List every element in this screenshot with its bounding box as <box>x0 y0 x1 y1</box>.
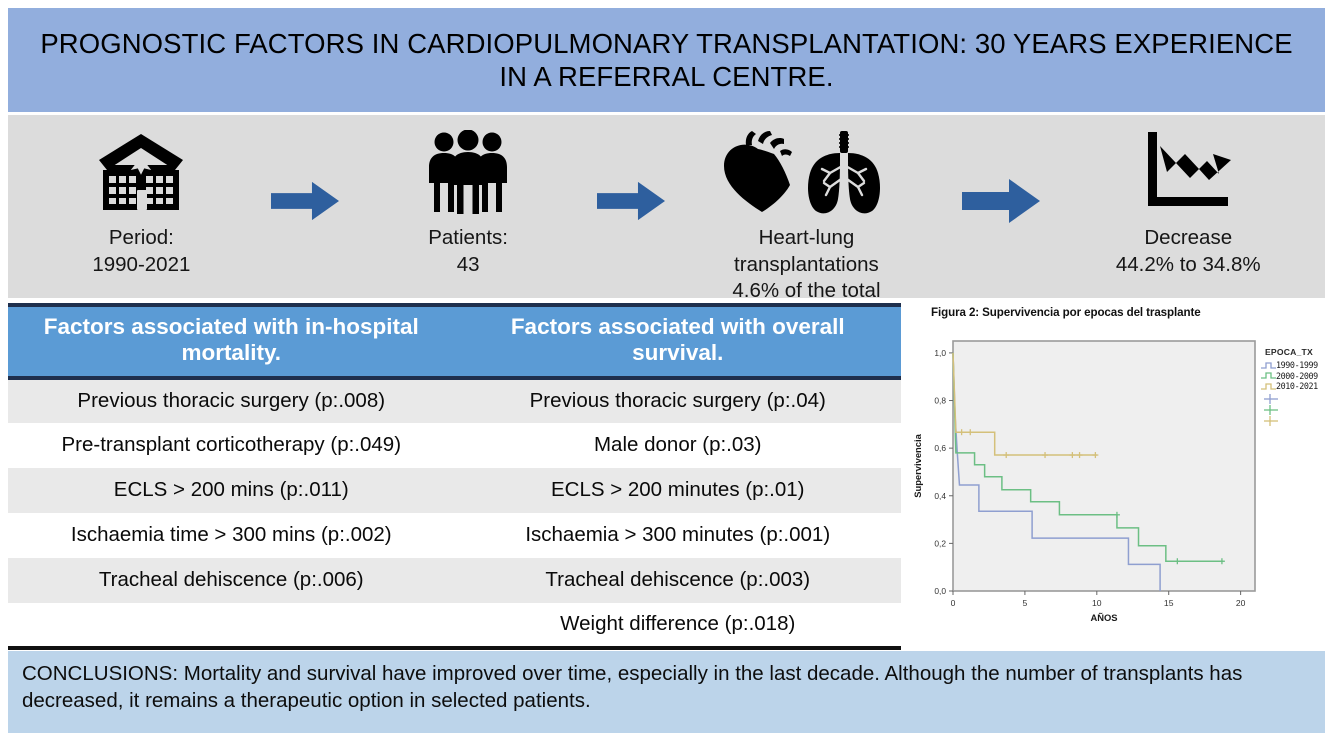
flow-arrow-3-cell <box>947 129 1055 223</box>
cell-mortality-3: ECLS > 200 mins (p:.011) <box>8 468 455 513</box>
legend-step-glyph <box>1261 382 1276 391</box>
flow-step-decrease: Decrease 44.2% to 34.8% <box>1056 129 1322 278</box>
decreasing-chart-icon <box>1142 129 1234 215</box>
svg-text:0,2: 0,2 <box>934 538 946 548</box>
results-area: Factors associated with in-hospital mort… <box>8 300 1325 647</box>
flow-arrow-2-cell <box>597 129 665 223</box>
svg-text:AÑOS: AÑOS <box>1090 612 1117 623</box>
flow-arrow-1-cell <box>271 129 339 223</box>
right-arrow-icon <box>597 179 665 223</box>
cell-survival-6: Weight difference (p:.018) <box>455 603 902 648</box>
table-row: Pre-transplant corticotherapy (p:.049) M… <box>8 423 901 468</box>
table-row: Weight difference (p:.018) <box>8 603 901 648</box>
flow-step-transplantations: Heart-lung transplantations 4.6% of the … <box>665 129 947 305</box>
legend-title: EPOCA_TX <box>1265 347 1327 357</box>
conclusions-text: CONCLUSIONS: Mortality and survival have… <box>22 660 1311 715</box>
table-header-survival: Factors associated with overall survival… <box>455 305 902 378</box>
poster-title: PROGNOSTIC FACTORS IN CARDIOPULMONARY TR… <box>26 27 1307 93</box>
legend-label-0: 1990-1999 <box>1276 360 1318 370</box>
svg-text:10: 10 <box>1092 598 1102 608</box>
right-arrow-icon <box>271 179 339 223</box>
cell-survival-3: ECLS > 200 minutes (p:.01) <box>455 468 902 513</box>
flow-label-transplantations: Heart-lung transplantations 4.6% of the … <box>732 225 880 305</box>
svg-text:0,8: 0,8 <box>934 396 946 406</box>
svg-text:5: 5 <box>1023 598 1028 608</box>
hospital-icon <box>93 129 189 215</box>
legend-item-1: 2000-2009 <box>1261 371 1327 381</box>
flow-step-period: Period: 1990-2021 <box>12 129 271 278</box>
cell-mortality-5: Tracheal dehiscence (p:.006) <box>8 558 455 603</box>
legend-item-0: 1990-1999 <box>1261 360 1327 370</box>
svg-text:0,0: 0,0 <box>934 586 946 596</box>
survival-chart-panel: Figura 2: Supervivencia por epocas del t… <box>901 300 1325 647</box>
svg-text:15: 15 <box>1164 598 1174 608</box>
cell-mortality-4: Ischaemia time > 300 mins (p:.002) <box>8 513 455 558</box>
cell-survival-1: Previous thoracic surgery (p:.04) <box>455 378 902 423</box>
legend-label-1: 2000-2009 <box>1276 371 1318 381</box>
patients-group-icon <box>418 129 518 215</box>
cell-mortality-6 <box>8 603 455 648</box>
cell-survival-5: Tracheal dehiscence (p:.003) <box>455 558 902 603</box>
title-banner: PROGNOSTIC FACTORS IN CARDIOPULMONARY TR… <box>8 8 1325 112</box>
table-row: Tracheal dehiscence (p:.006) Tracheal de… <box>8 558 901 603</box>
table-row: Previous thoracic surgery (p:.008) Previ… <box>8 378 901 423</box>
svg-text:Supervivencia: Supervivencia <box>912 433 923 497</box>
factors-tables: Factors associated with in-hospital mort… <box>8 300 901 647</box>
chart-title: Figura 2: Supervivencia por epocas del t… <box>931 306 1325 319</box>
table-header-row: Factors associated with in-hospital mort… <box>8 305 901 378</box>
cell-mortality-2: Pre-transplant corticotherapy (p:.049) <box>8 423 455 468</box>
factors-table: Factors associated with in-hospital mort… <box>8 303 901 650</box>
right-arrow-icon <box>962 179 1040 223</box>
chart-legend: EPOCA_TX 1990-1999 2000-2009 <box>1261 347 1327 433</box>
cell-survival-4: Ischaemia > 300 minutes (p:.001) <box>455 513 902 558</box>
legend-step-glyph <box>1261 361 1276 370</box>
svg-text:0,6: 0,6 <box>934 443 946 453</box>
svg-text:20: 20 <box>1236 598 1246 608</box>
svg-text:0: 0 <box>951 598 956 608</box>
cell-survival-2: Male donor (p:.03) <box>455 423 902 468</box>
table-header-mortality: Factors associated with in-hospital mort… <box>8 305 455 378</box>
chart-body: 0,00,20,40,60,81,005101520AÑOSSuperviven… <box>909 325 1325 635</box>
cell-mortality-1: Previous thoracic surgery (p:.008) <box>8 378 455 423</box>
legend-label-2: 2010-2021 <box>1276 381 1318 391</box>
flow-label-patients: Patients: 43 <box>428 225 508 278</box>
svg-text:1,0: 1,0 <box>934 348 946 358</box>
flow-step-patients: Patients: 43 <box>339 129 598 278</box>
poster-root: PROGNOSTIC FACTORS IN CARDIOPULMONARY TR… <box>0 0 1333 753</box>
flow-label-period: Period: 1990-2021 <box>92 225 190 278</box>
legend-censor-marks <box>1262 394 1284 428</box>
svg-text:0,4: 0,4 <box>934 491 946 501</box>
table-row: ECLS > 200 mins (p:.011) ECLS > 200 minu… <box>8 468 901 513</box>
legend-item-2: 2010-2021 <box>1261 381 1327 391</box>
legend-step-glyph <box>1261 371 1276 380</box>
heart-lungs-icon <box>718 129 894 215</box>
study-flow-strip: Period: 1990-2021 <box>8 115 1325 298</box>
conclusions-banner: CONCLUSIONS: Mortality and survival have… <box>8 651 1325 733</box>
table-row: Ischaemia time > 300 mins (p:.002) Ischa… <box>8 513 901 558</box>
flow-label-decrease: Decrease 44.2% to 34.8% <box>1116 225 1261 278</box>
